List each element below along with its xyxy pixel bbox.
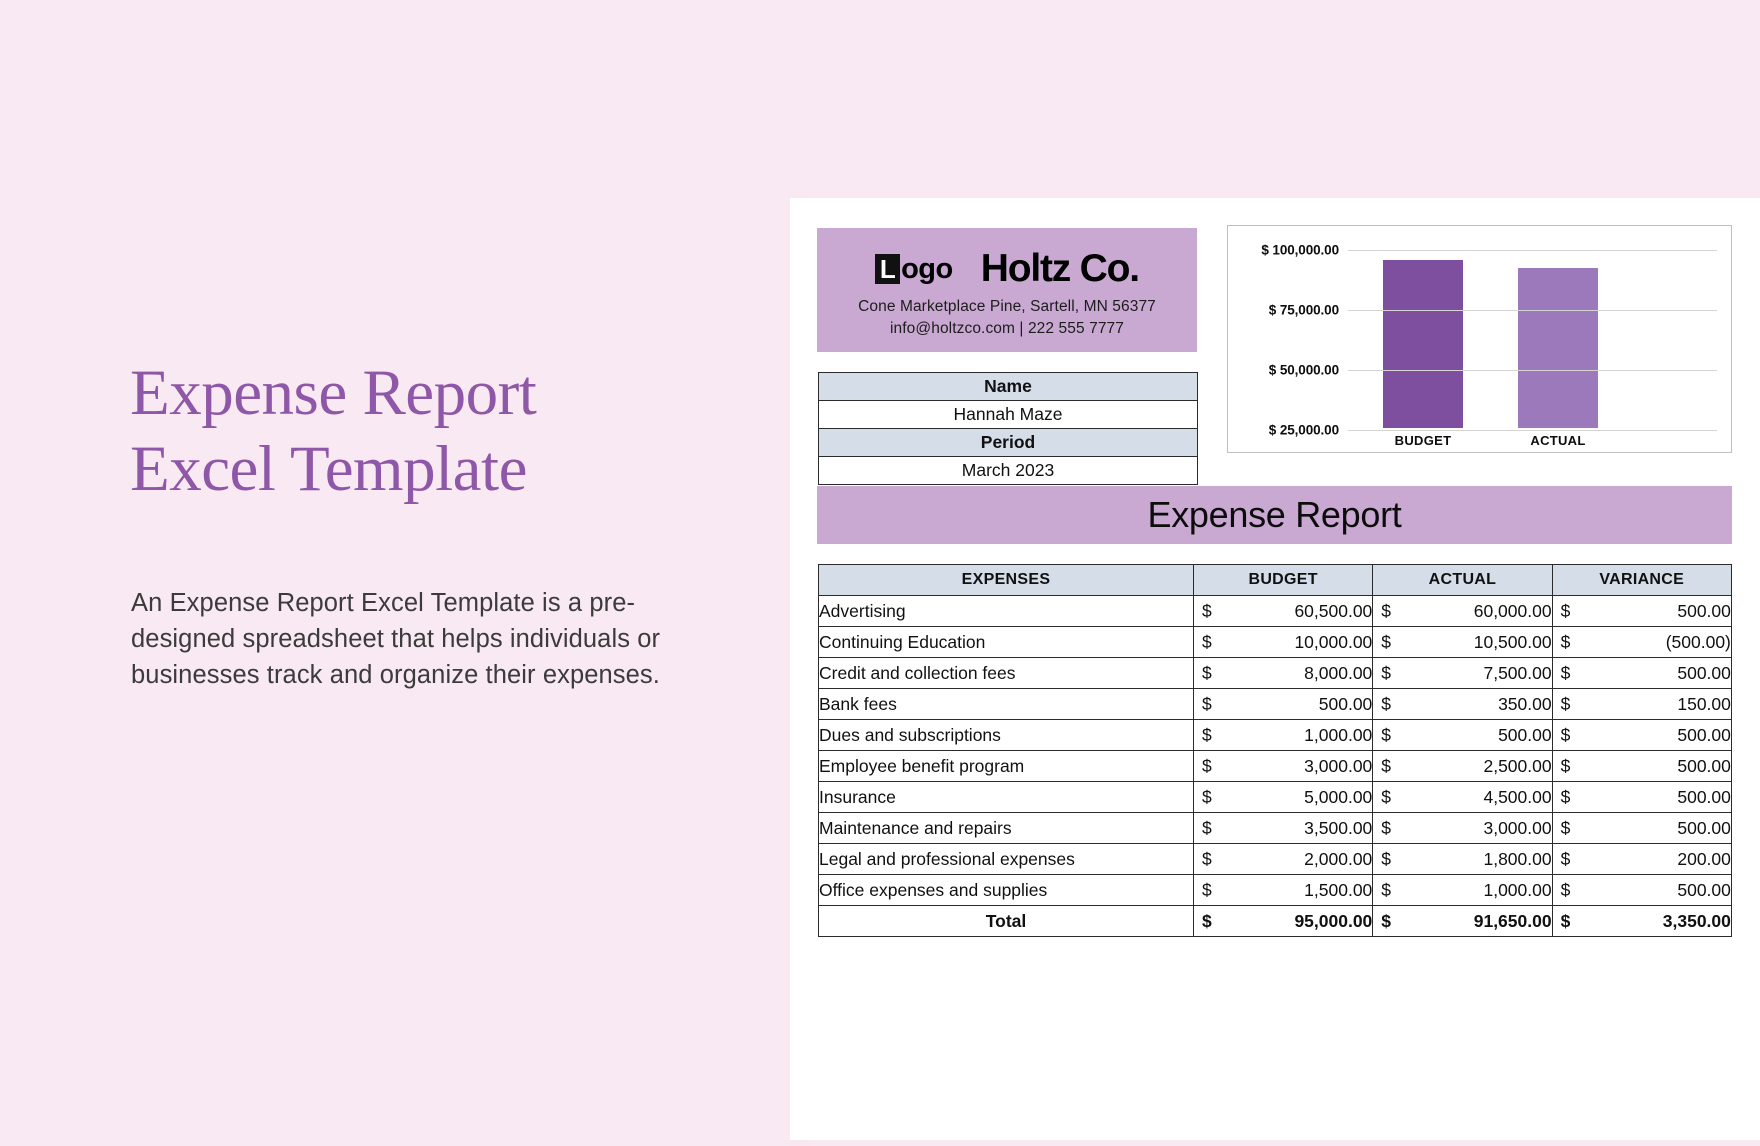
cell-amount[interactable]: $500.00: [1552, 720, 1731, 751]
cell-amount[interactable]: $60,000.00: [1373, 596, 1552, 627]
cell-amount[interactable]: $95,000.00: [1194, 906, 1373, 937]
cell-amount[interactable]: $1,800.00: [1373, 844, 1552, 875]
cell-amount[interactable]: $350.00: [1373, 689, 1552, 720]
table-header-row: EXPENSES BUDGET ACTUAL VARIANCE: [819, 565, 1732, 596]
cell-amount[interactable]: $500.00: [1552, 596, 1731, 627]
promo-panel: Expense Report Excel Template An Expense…: [0, 0, 790, 1140]
table-row: Office expenses and supplies$1,500.00$1,…: [819, 875, 1732, 906]
cell-amount[interactable]: $1,000.00: [1194, 720, 1373, 751]
table-row: Employee benefit program$3,000.00$2,500.…: [819, 751, 1732, 782]
expenses-table: EXPENSES BUDGET ACTUAL VARIANCE Advertis…: [818, 564, 1732, 937]
currency-symbol: $: [1561, 627, 1571, 658]
budget-vs-actual-chart[interactable]: BUDGET ACTUAL $ 100,000.00$ 75,000.00$ 5…: [1227, 225, 1732, 453]
cell-amount[interactable]: $500.00: [1552, 813, 1731, 844]
cell-amount[interactable]: $60,500.00: [1194, 596, 1373, 627]
cell-amount[interactable]: $4,500.00: [1373, 782, 1552, 813]
cell-expense-name[interactable]: Employee benefit program: [819, 751, 1194, 782]
column-header-budget: BUDGET: [1194, 565, 1373, 596]
chart-y-tick-label: $ 75,000.00: [1269, 303, 1339, 318]
cell-expense-name[interactable]: Legal and professional expenses: [819, 844, 1194, 875]
page-description: An Expense Report Excel Template is a pr…: [131, 585, 716, 694]
chart-plot-area: BUDGET ACTUAL $ 100,000.00$ 75,000.00$ 5…: [1228, 226, 1731, 452]
table-row: Period: [819, 429, 1198, 457]
cell-expense-name[interactable]: Maintenance and repairs: [819, 813, 1194, 844]
cell-amount[interactable]: $500.00: [1373, 720, 1552, 751]
currency-symbol: $: [1561, 844, 1571, 875]
currency-symbol: $: [1381, 782, 1391, 813]
company-name: Holtz Co.: [981, 247, 1139, 291]
currency-symbol: $: [1202, 906, 1212, 937]
cell-amount[interactable]: $200.00: [1552, 844, 1731, 875]
page-title-line-2: Excel Template: [130, 431, 730, 507]
currency-symbol: $: [1381, 627, 1391, 658]
cell-expense-name[interactable]: Credit and collection fees: [819, 658, 1194, 689]
cell-amount[interactable]: $500.00: [1552, 782, 1731, 813]
cell-amount[interactable]: $500.00: [1194, 689, 1373, 720]
cell-amount[interactable]: $3,000.00: [1373, 813, 1552, 844]
column-header-variance: VARIANCE: [1552, 565, 1731, 596]
logo-text: ogo: [901, 253, 953, 286]
table-row: Dues and subscriptions$1,000.00$500.00$5…: [819, 720, 1732, 751]
company-header-row: L ogo Holtz Co.: [817, 244, 1197, 294]
cell-amount[interactable]: $91,650.00: [1373, 906, 1552, 937]
logo-letter-box: L: [875, 254, 900, 284]
table-row: March 2023: [819, 457, 1198, 485]
currency-symbol: $: [1561, 596, 1571, 627]
cell-amount[interactable]: $1,500.00: [1194, 875, 1373, 906]
cell-amount[interactable]: $3,500.00: [1194, 813, 1373, 844]
chart-gridline: [1348, 430, 1717, 431]
report-title-bar: Expense Report: [817, 486, 1732, 544]
currency-symbol: $: [1381, 720, 1391, 751]
currency-symbol: $: [1202, 751, 1212, 782]
currency-symbol: $: [1202, 720, 1212, 751]
cell-expense-name[interactable]: Bank fees: [819, 689, 1194, 720]
currency-symbol: $: [1381, 813, 1391, 844]
currency-symbol: $: [1202, 596, 1212, 627]
column-header-actual: ACTUAL: [1373, 565, 1552, 596]
currency-symbol: $: [1381, 658, 1391, 689]
table-row: Name: [819, 373, 1198, 401]
expenses-table-body: Advertising$60,500.00$60,000.00$500.00Co…: [819, 596, 1732, 937]
cell-expense-name[interactable]: Dues and subscriptions: [819, 720, 1194, 751]
cell-amount[interactable]: $150.00: [1552, 689, 1731, 720]
cell-total-label: Total: [819, 906, 1194, 937]
cell-amount[interactable]: $10,500.00: [1373, 627, 1552, 658]
currency-symbol: $: [1202, 689, 1212, 720]
column-header-expenses: EXPENSES: [819, 565, 1194, 596]
currency-symbol: $: [1202, 875, 1212, 906]
currency-symbol: $: [1561, 751, 1571, 782]
company-contact: info@holtzco.com | 222 555 7777: [817, 320, 1197, 338]
table-row: Continuing Education$10,000.00$10,500.00…: [819, 627, 1732, 658]
currency-symbol: $: [1381, 751, 1391, 782]
currency-symbol: $: [1202, 782, 1212, 813]
table-row: Credit and collection fees$8,000.00$7,50…: [819, 658, 1732, 689]
cell-amount[interactable]: $1,000.00: [1373, 875, 1552, 906]
currency-symbol: $: [1381, 596, 1391, 627]
currency-symbol: $: [1202, 844, 1212, 875]
period-value[interactable]: March 2023: [819, 457, 1198, 485]
total-row: Total$95,000.00$91,650.00$3,350.00: [819, 906, 1732, 937]
cell-amount[interactable]: $10,000.00: [1194, 627, 1373, 658]
bar-label-actual: ACTUAL: [1503, 433, 1613, 448]
cell-amount[interactable]: $2,000.00: [1194, 844, 1373, 875]
chart-gridline: [1348, 370, 1717, 371]
cell-amount[interactable]: $8,000.00: [1194, 658, 1373, 689]
cell-amount[interactable]: $3,350.00: [1552, 906, 1731, 937]
cell-amount[interactable]: $500.00: [1552, 751, 1731, 782]
currency-symbol: $: [1381, 689, 1391, 720]
meta-table: Name Hannah Maze Period March 2023: [818, 372, 1198, 485]
cell-amount[interactable]: $(500.00): [1552, 627, 1731, 658]
bar-actual: [1518, 268, 1598, 428]
cell-expense-name[interactable]: Office expenses and supplies: [819, 875, 1194, 906]
currency-symbol: $: [1381, 875, 1391, 906]
cell-amount[interactable]: $500.00: [1552, 875, 1731, 906]
name-value[interactable]: Hannah Maze: [819, 401, 1198, 429]
table-row: Insurance$5,000.00$4,500.00$500.00: [819, 782, 1732, 813]
logo-placeholder-icon: L ogo: [875, 253, 953, 286]
cell-amount[interactable]: $2,500.00: [1373, 751, 1552, 782]
currency-symbol: $: [1561, 689, 1571, 720]
page-title-line-1: Expense Report: [130, 357, 536, 429]
currency-symbol: $: [1561, 782, 1571, 813]
table-row: Bank fees$500.00$350.00$150.00: [819, 689, 1732, 720]
page-title: Expense Report Excel Template: [130, 355, 730, 507]
company-address: Cone Marketplace Pine, Sartell, MN 56377: [817, 298, 1197, 316]
table-row: Advertising$60,500.00$60,000.00$500.00: [819, 596, 1732, 627]
chart-y-tick-label: $ 100,000.00: [1261, 243, 1339, 258]
chart-gridline: [1348, 250, 1717, 251]
bar-budget: [1383, 260, 1463, 428]
chart-gridline: [1348, 310, 1717, 311]
spreadsheet-page: L ogo Holtz Co. Cone Marketplace Pine, S…: [790, 198, 1760, 1140]
table-row: Hannah Maze: [819, 401, 1198, 429]
company-banner: L ogo Holtz Co. Cone Marketplace Pine, S…: [817, 228, 1197, 352]
cell-amount[interactable]: $7,500.00: [1373, 658, 1552, 689]
cell-expense-name[interactable]: Advertising: [819, 596, 1194, 627]
currency-symbol: $: [1202, 813, 1212, 844]
currency-symbol: $: [1381, 906, 1391, 937]
currency-symbol: $: [1561, 658, 1571, 689]
period-label: Period: [819, 429, 1198, 457]
currency-symbol: $: [1561, 813, 1571, 844]
cell-amount[interactable]: $5,000.00: [1194, 782, 1373, 813]
bar-label-budget: BUDGET: [1368, 433, 1478, 448]
currency-symbol: $: [1202, 627, 1212, 658]
table-row: Maintenance and repairs$3,500.00$3,000.0…: [819, 813, 1732, 844]
cell-amount[interactable]: $3,000.00: [1194, 751, 1373, 782]
cell-expense-name[interactable]: Insurance: [819, 782, 1194, 813]
currency-symbol: $: [1202, 658, 1212, 689]
name-label: Name: [819, 373, 1198, 401]
chart-y-tick-label: $ 50,000.00: [1269, 363, 1339, 378]
cell-expense-name[interactable]: Continuing Education: [819, 627, 1194, 658]
table-row: Legal and professional expenses$2,000.00…: [819, 844, 1732, 875]
currency-symbol: $: [1561, 906, 1571, 937]
currency-symbol: $: [1561, 875, 1571, 906]
currency-symbol: $: [1381, 844, 1391, 875]
currency-symbol: $: [1561, 720, 1571, 751]
chart-y-tick-label: $ 25,000.00: [1269, 423, 1339, 438]
cell-amount[interactable]: $500.00: [1552, 658, 1731, 689]
